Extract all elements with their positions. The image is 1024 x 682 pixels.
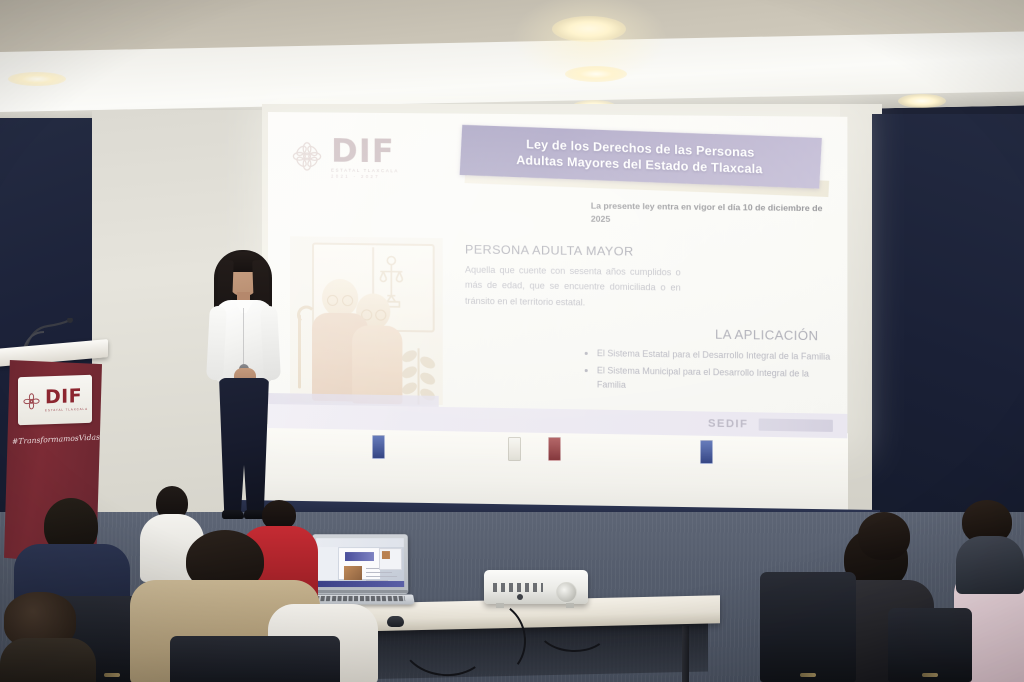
ceiling-downlight-5 [898,94,946,108]
laptop-app-ribbon [316,538,404,547]
auditorium-chair-right [760,572,856,682]
olive-branch-icon [394,332,440,405]
elderly-woman-glasses-right [375,310,386,321]
projector-body [484,570,588,604]
wall-outlet-blue-left [372,435,385,459]
attendee-back-right [846,512,922,586]
projector-lens [556,582,577,603]
attendee-body [956,536,1024,594]
slide-effective-date-note: La presente ley entra en vigor el día 10… [591,200,829,230]
walking-cane-icon [298,314,301,388]
attendee-head [858,512,910,560]
presenter-arm-right [260,306,281,381]
slide-dif-wordmark: DIF ESTATAL TLAXCALA 2021 - 2027 [331,135,399,179]
auditorium-chair-center [170,636,340,682]
dif-wordmark-text: DIF [331,135,399,168]
laptop-slide-textline [366,572,392,573]
conference-room-scene: DIF ESTATAL TLAXCALA 2021 - 2027 Ley de … [0,0,1024,682]
attendee-body [0,638,96,682]
laptop-side-panel [379,548,402,570]
slide-application-list: El Sistema Estatal para el Desarrollo In… [583,347,839,399]
ceiling-downlight-1 [552,16,626,42]
laptop-slide-image [344,566,362,580]
laptop-slide-textline [366,576,397,577]
computer-mouse[interactable] [387,616,404,627]
podium-logo-plate: DIF ESTATAL TLAXCALA [18,375,92,426]
elderly-man-glasses-right [342,295,353,306]
presentation-slide: DIF ESTATAL TLAXCALA 2021 - 2027 Ley de … [268,112,847,438]
podium-subline-text: ESTATAL TLAXCALA [45,408,88,413]
slide-dif-logo: DIF ESTATAL TLAXCALA 2021 - 2027 [290,128,421,185]
attendee-dark-far-right [956,500,1024,592]
list-item: El Sistema Estatal para el Desarrollo In… [597,347,839,365]
slide-definition-heading: PERSONA ADULTA MAYOR [465,242,634,258]
elderly-man-glasses-left [327,295,338,306]
mandala-flower-icon [290,139,324,173]
laptop-screen[interactable] [316,538,404,587]
projector-ports [493,583,543,592]
ceiling-downlight-2 [565,66,627,82]
slide-definition-body: Aquella que cuente con sesenta años cump… [465,263,681,313]
laptop-slide-canvas [339,548,380,579]
ceiling-downlight-6 [8,72,66,86]
slide-footer-logo [759,418,833,431]
podium-dif-text: DIF [45,387,88,408]
wall-outlet-red-center [548,437,561,461]
slide-footer-brand: SEDIF [708,418,748,431]
laptop-slide-title-bar [345,552,374,561]
wall-outlet-blue-right [700,440,713,464]
projection-screen: DIF ESTATAL TLAXCALA 2021 - 2027 Ley de … [268,112,847,438]
wall-outlet-white-center [508,437,521,461]
presenter-person [196,248,292,534]
podium-wordmark: DIF ESTATAL TLAXCALA [45,387,88,412]
list-item: El Sistema Municipal para el Desarrollo … [597,364,839,396]
dif-years-text: 2021 - 2027 [331,174,399,179]
laptop-lid [312,534,409,594]
auditorium-chair-far-right [888,608,972,682]
elderly-couple-illustration [290,236,443,405]
table-leg-right [682,626,689,682]
wall-panel-right-dark [872,114,1024,524]
projector-knob[interactable] [517,594,523,600]
slide-application-heading: LA APLICACIÓN [715,327,818,344]
laptop-status-bar [316,581,404,587]
mandala-flower-icon [22,391,41,411]
attendee-curly-front-left [0,592,96,682]
presenter-trousers [218,378,270,514]
